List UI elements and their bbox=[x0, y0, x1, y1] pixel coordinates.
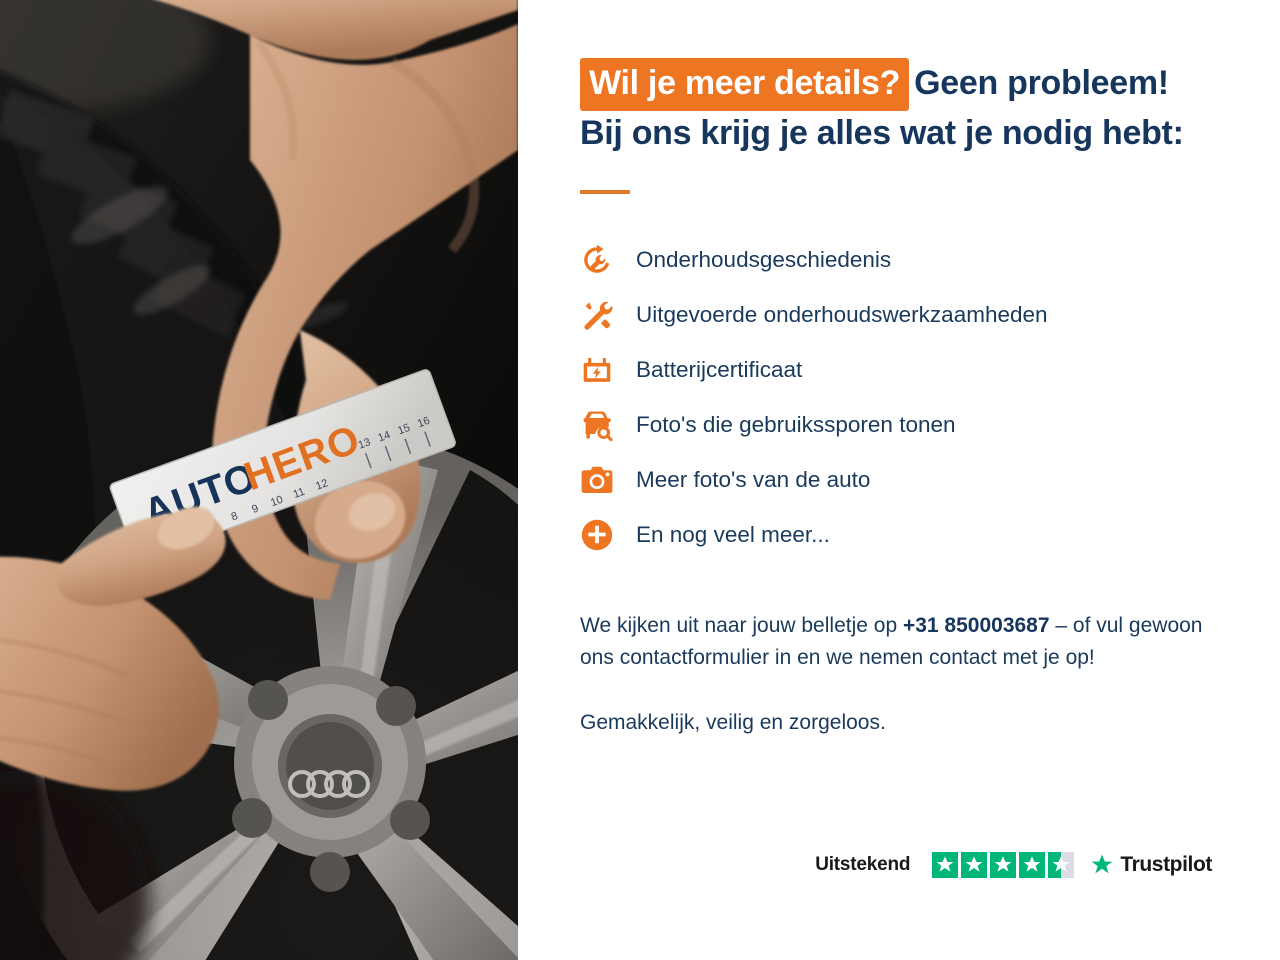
feature-item-more: En nog veel meer... bbox=[580, 507, 1234, 562]
feature-label: Batterijcertificaat bbox=[636, 356, 802, 383]
star-icon bbox=[961, 852, 987, 878]
hero-photo: AUTO HERO 1314 1516 56 78 910 1112 bbox=[0, 0, 518, 960]
feature-label: Foto's die gebruikssporen tonen bbox=[636, 411, 956, 438]
trustpilot-widget[interactable]: Uitstekend bbox=[580, 852, 1234, 934]
trustpilot-star-icon bbox=[1090, 853, 1114, 877]
promo-banner: AUTO HERO 1314 1516 56 78 910 1112 bbox=[0, 0, 1280, 960]
headline-highlight: Wil je meer details? bbox=[580, 58, 909, 111]
feature-label: Meer foto's van de auto bbox=[636, 466, 870, 493]
reassurance-paragraph: Gemakkelijk, veilig en zorgeloos. bbox=[580, 707, 1234, 739]
headline-line-2: Bij ons krijg je alles wat je nodig hebt… bbox=[580, 111, 1234, 156]
star-icon bbox=[990, 852, 1016, 878]
feature-label: Onderhoudsgeschiedenis bbox=[636, 246, 891, 273]
feature-list: Onderhoudsgeschiedenis Uitgevoerde onder… bbox=[580, 232, 1234, 562]
feature-item-car-inspection: Foto's die gebruikssporen tonen bbox=[580, 397, 1234, 452]
contact-copy: We kijken uit naar jouw belletje op +31 … bbox=[580, 610, 1234, 739]
car-inspection-icon bbox=[580, 408, 614, 442]
trustpilot-stars bbox=[932, 852, 1074, 878]
page-title: Wil je meer details?Geen probleem! Bij o… bbox=[580, 58, 1234, 156]
plus-circle-icon bbox=[580, 518, 614, 552]
feature-item-maintenance-history: Onderhoudsgeschiedenis bbox=[580, 232, 1234, 287]
feature-item-battery: Batterijcertificaat bbox=[580, 342, 1234, 397]
tire-measurement-photo: AUTO HERO 1314 1516 56 78 910 1112 bbox=[0, 0, 518, 960]
trustpilot-rating-word: Uitstekend bbox=[815, 854, 910, 876]
maintenance-history-icon bbox=[580, 243, 614, 277]
star-half-icon bbox=[1048, 852, 1074, 878]
trustpilot-logo[interactable]: Trustpilot bbox=[1090, 853, 1212, 877]
headline-rest: Geen probleem! bbox=[914, 64, 1169, 102]
star-icon bbox=[932, 852, 958, 878]
section-divider bbox=[580, 190, 630, 194]
camera-icon bbox=[580, 463, 614, 497]
content-panel: Wil je meer details?Geen probleem! Bij o… bbox=[518, 0, 1280, 960]
star-icon bbox=[1019, 852, 1045, 878]
feature-item-tools: Uitgevoerde onderhoudswerkzaamheden bbox=[580, 287, 1234, 342]
contact-paragraph: We kijken uit naar jouw belletje op +31 … bbox=[580, 610, 1234, 674]
battery-icon bbox=[580, 353, 614, 387]
tools-icon bbox=[580, 298, 614, 332]
feature-item-camera: Meer foto's van de auto bbox=[580, 452, 1234, 507]
trustpilot-wordmark: Trustpilot bbox=[1120, 853, 1212, 877]
contact-text-before: We kijken uit naar jouw belletje op bbox=[580, 614, 903, 637]
headline-line-1: Wil je meer details?Geen probleem! bbox=[580, 58, 1234, 111]
phone-number[interactable]: +31 850003687 bbox=[903, 614, 1050, 637]
feature-label: Uitgevoerde onderhoudswerkzaamheden bbox=[636, 301, 1048, 328]
feature-label: En nog veel meer... bbox=[636, 521, 830, 548]
